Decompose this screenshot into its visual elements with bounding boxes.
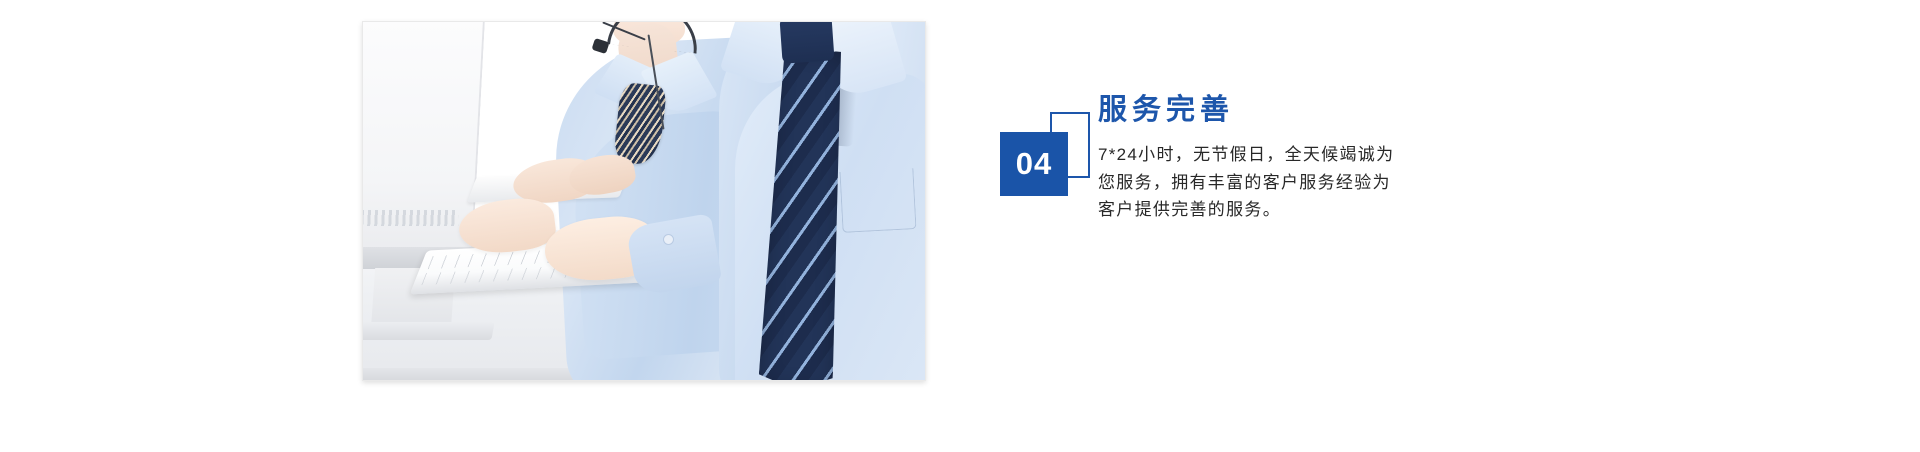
- feature-description: 7*24小时，无节假日，全天候竭诚为 您服务，拥有丰富的客户服务经验为 客户提供…: [1098, 141, 1498, 224]
- service-feature-section: 04 服务完善 7*24小时，无节假日，全天候竭诚为 您服务，拥有丰富的客户服务…: [0, 0, 1920, 452]
- feature-text-block: 服务完善 7*24小时，无节假日，全天候竭诚为 您服务，拥有丰富的客户服务经验为…: [1098, 92, 1498, 224]
- necktie-knot: [779, 22, 834, 64]
- description-line-3: 客户提供完善的服务。: [1098, 196, 1498, 224]
- feature-photo-frame: [362, 21, 926, 381]
- feature-content: 04 服务完善 7*24小时，无节假日，全天候竭诚为 您服务，拥有丰富的客户服务…: [1000, 0, 1520, 452]
- customer-service-photo: [363, 22, 925, 380]
- cuff-button: [663, 234, 674, 245]
- description-line-1: 7*24小时，无节假日，全天候竭诚为: [1098, 141, 1498, 169]
- step-number-badge: 04: [1000, 112, 1092, 192]
- feature-heading: 服务完善: [1098, 92, 1498, 128]
- shirt-pocket: [839, 168, 916, 233]
- badge-number-label: 04: [1000, 132, 1068, 196]
- shirt-cuff: [626, 213, 723, 297]
- monitor-base: [363, 322, 495, 340]
- description-line-2: 您服务，拥有丰富的客户服务经验为: [1098, 169, 1498, 197]
